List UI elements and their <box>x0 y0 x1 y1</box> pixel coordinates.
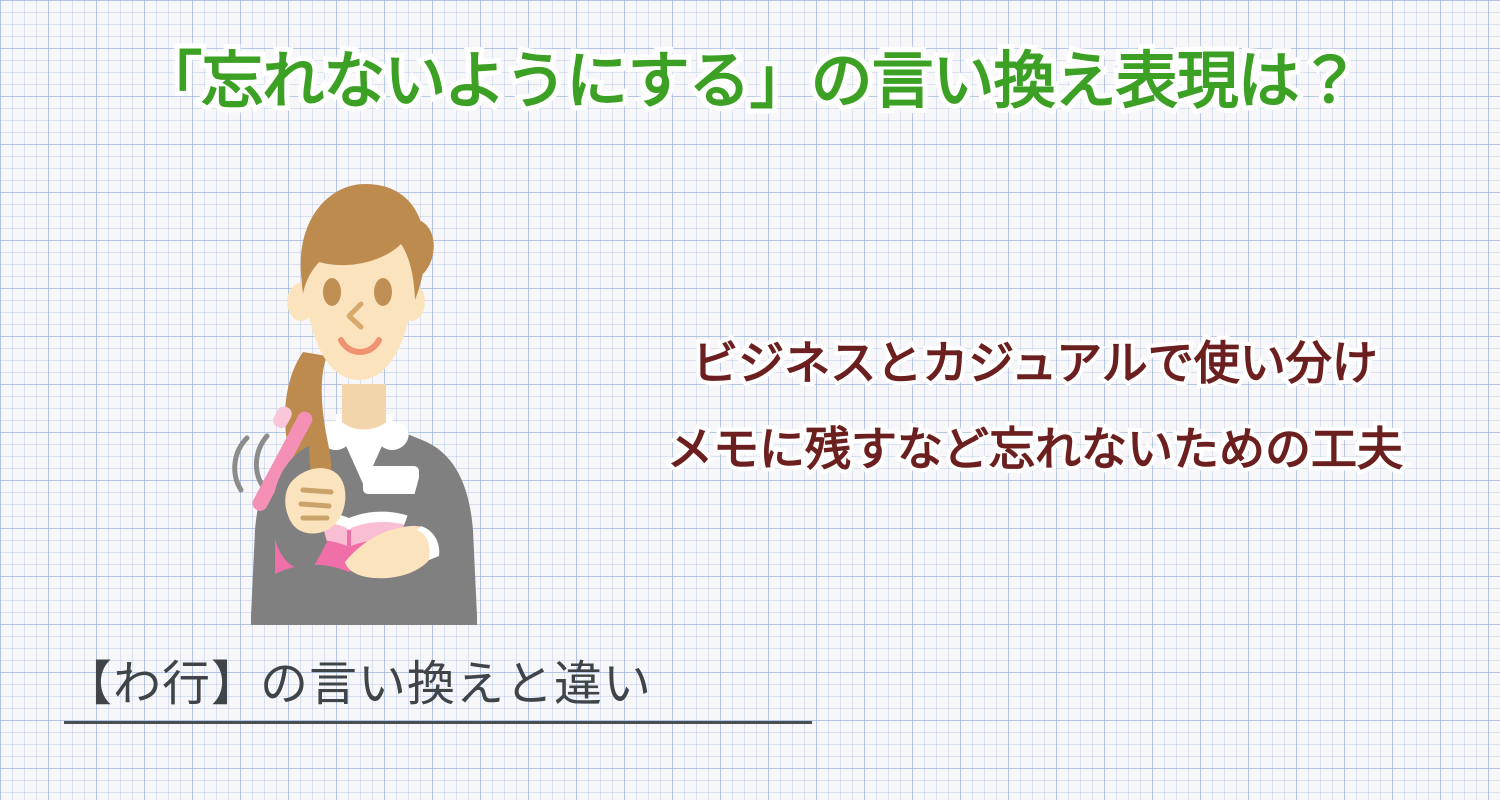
name-badge <box>363 466 419 494</box>
subcopy-line-2: メモに残すなど忘れないための工夫 <box>600 426 1470 472</box>
subcopy-block: ビジネスとカジュアルで使い分け メモに残すなど忘れないための工夫 <box>600 340 1470 472</box>
subcopy-line-1: ビジネスとカジュアルで使い分け <box>600 340 1470 386</box>
page-title: 「忘れないようにする」の言い換え表現は？ <box>0 46 1500 117</box>
footer-divider <box>64 721 812 724</box>
category-footer: 【わ行】の言い換えと違い <box>64 655 824 724</box>
motion-lines-icon <box>235 436 267 490</box>
eye-left <box>323 278 341 306</box>
illustration-businesswoman-writing <box>215 170 515 630</box>
suit-hem <box>251 616 477 625</box>
category-label: 【わ行】の言い換えと違い <box>64 655 824 715</box>
neck <box>342 384 386 430</box>
eye-right <box>374 278 392 306</box>
eyecatch-canvas: 「忘れないようにする」の言い換え表現は？ <box>0 0 1500 800</box>
